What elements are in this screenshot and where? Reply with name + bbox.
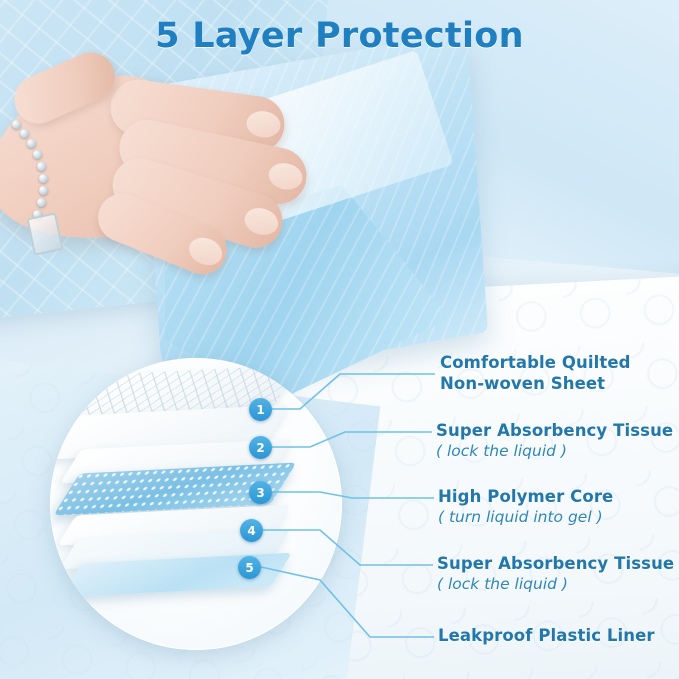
fingernail xyxy=(245,109,282,139)
layer-badge-5: 5 xyxy=(238,556,261,579)
layer-badge-2: 2 xyxy=(249,436,272,459)
bracelet xyxy=(8,120,78,250)
callout-2-line1: Super Absorbency Tissue xyxy=(436,420,673,441)
page-title: 5 Layer Protection xyxy=(0,16,679,56)
callout-2: Super Absorbency Tissue ( lock the liqui… xyxy=(436,420,673,462)
callout-2-sub: ( lock the liquid ) xyxy=(436,441,673,461)
product-infographic: 5 Layer Protection 1 2 3 4 5 Comfortable… xyxy=(0,0,679,679)
hand-holding-pad xyxy=(0,58,320,278)
callout-5: Leakproof Plastic Liner xyxy=(438,625,655,646)
callout-4-line1: Super Absorbency Tissue xyxy=(437,553,674,574)
callout-1: Comfortable Quilted Non-woven Sheet xyxy=(440,352,631,395)
fingernail xyxy=(185,233,226,270)
layer-badge-1: 1 xyxy=(249,398,272,421)
fingernail xyxy=(266,160,305,193)
callout-1-line2: Non-woven Sheet xyxy=(440,373,631,394)
layer-badge-3: 3 xyxy=(249,481,272,504)
callout-3: High Polymer Core ( turn liquid into gel… xyxy=(438,486,613,528)
bracelet-charm xyxy=(26,212,63,255)
layer-badge-4: 4 xyxy=(240,519,263,542)
callout-5-line1: Leakproof Plastic Liner xyxy=(438,625,655,646)
callout-3-sub: ( turn liquid into gel ) xyxy=(438,507,613,527)
callout-4-sub: ( lock the liquid ) xyxy=(437,574,674,594)
layer-stack-inset xyxy=(50,358,342,650)
fingernail xyxy=(241,204,281,239)
callout-3-line1: High Polymer Core xyxy=(438,486,613,507)
callout-1-line1: Comfortable Quilted xyxy=(440,352,631,373)
callout-4: Super Absorbency Tissue ( lock the liqui… xyxy=(437,553,674,595)
